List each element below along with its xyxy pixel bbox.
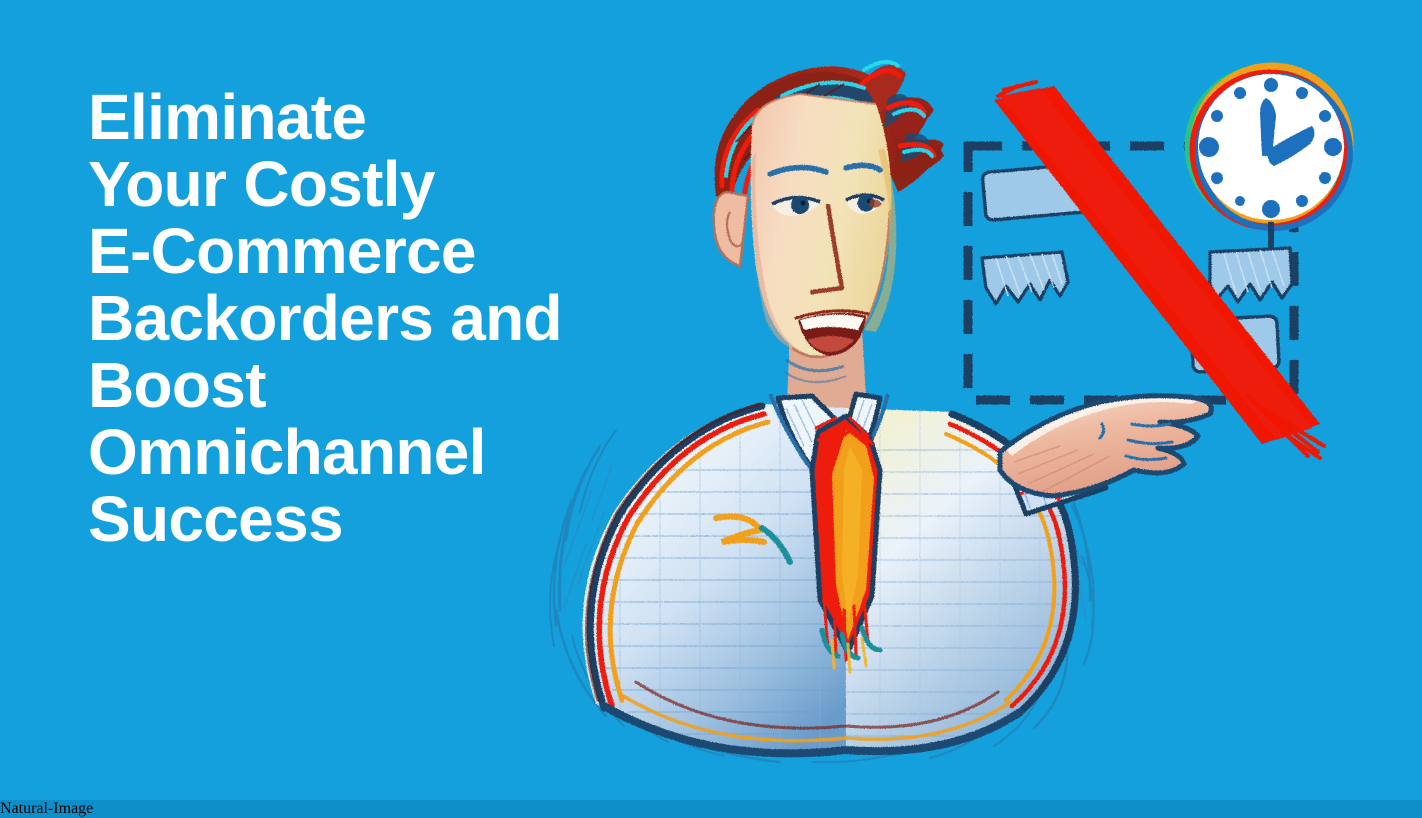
wall-clock bbox=[1188, 66, 1350, 248]
box-torn-tape-right bbox=[1210, 248, 1292, 302]
marketing-banner: Eliminate Your Costly E-Commerce Backord… bbox=[0, 0, 1422, 800]
page-title: Eliminate Your Costly E-Commerce Backord… bbox=[88, 84, 608, 553]
open-palm-hand bbox=[1000, 394, 1211, 496]
box-torn-tape-left bbox=[982, 252, 1068, 304]
